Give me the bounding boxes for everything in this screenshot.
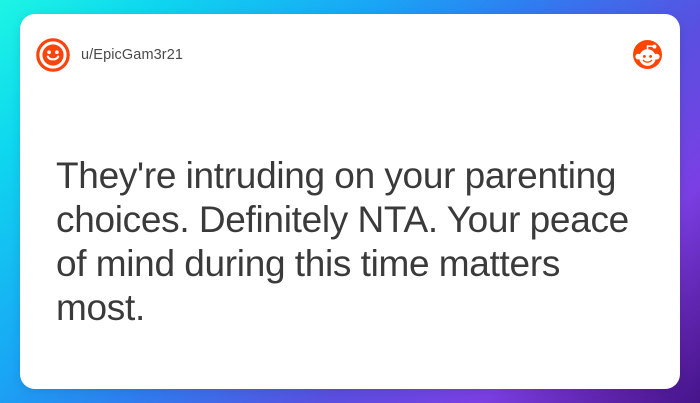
card-header: u/EpicGam3r21 [20,14,680,110]
reddit-snoo-icon[interactable] [633,40,662,69]
username-label: u/EpicGam3r21 [81,47,183,63]
post-text: They're intruding on your parenting choi… [56,154,650,330]
post-body: They're intruding on your parenting choi… [56,154,650,330]
reddit-comment-card: u/EpicGam3r21 They're intruding on your … [20,14,680,389]
smiley-face-avatar-icon[interactable] [36,38,70,72]
user-info-block[interactable]: u/EpicGam3r21 [36,38,183,72]
